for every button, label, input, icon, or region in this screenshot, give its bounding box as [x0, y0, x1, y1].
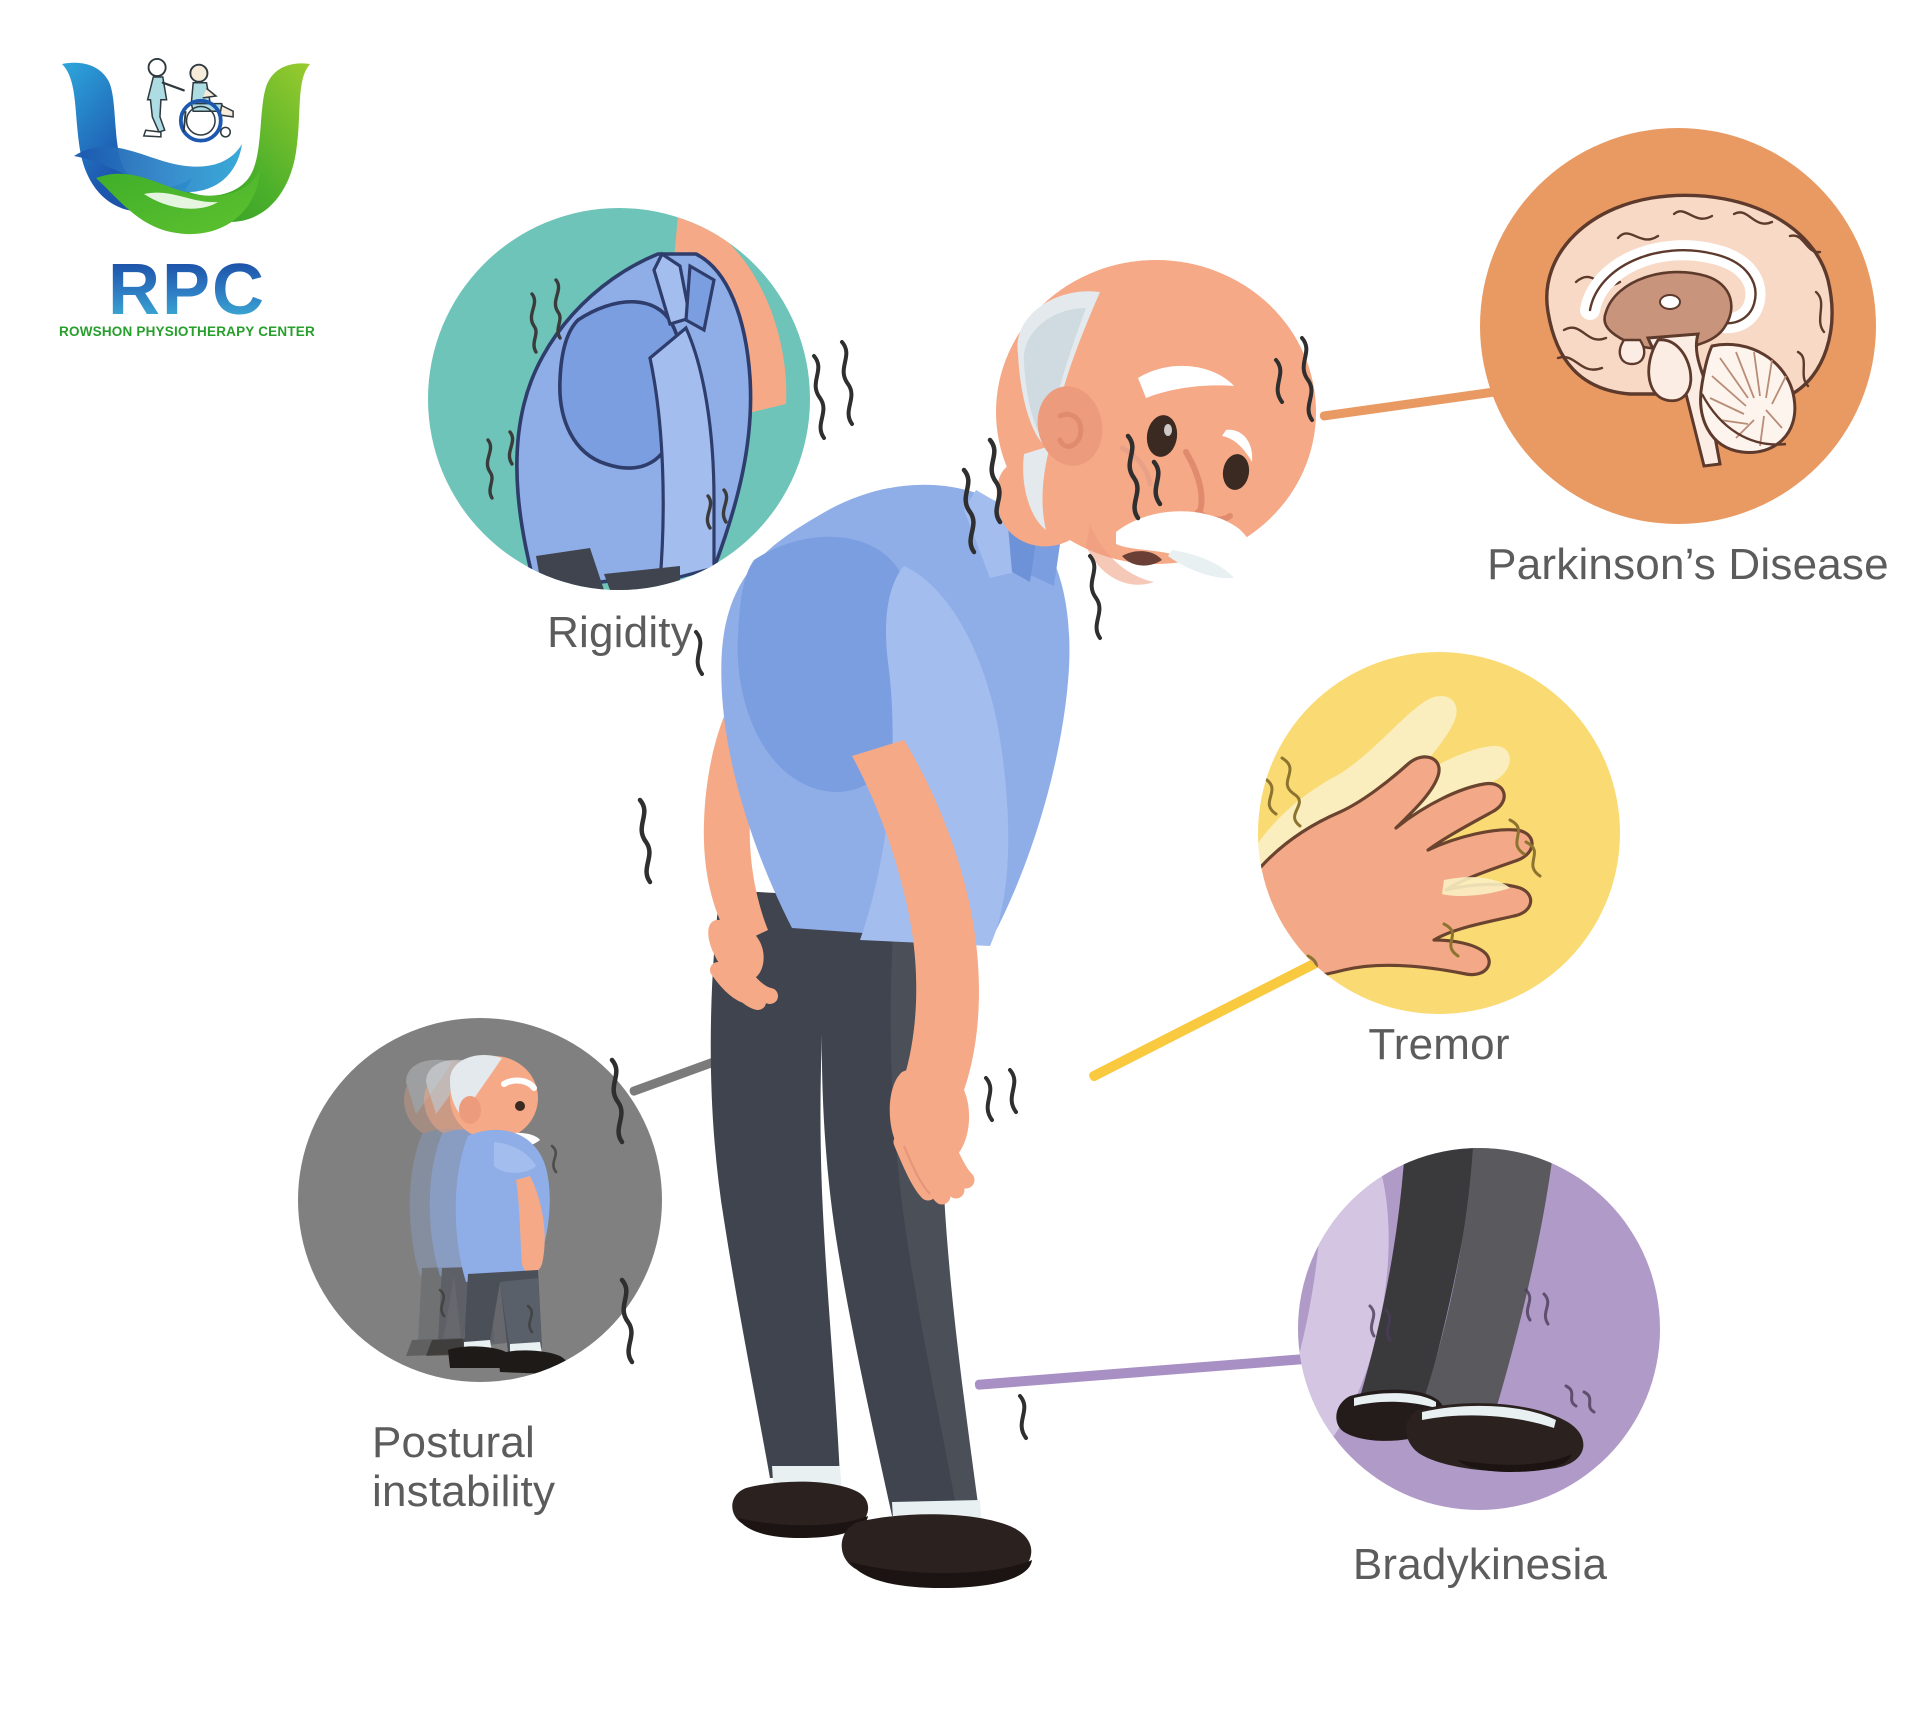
tremor-marks-overlay	[560, 760, 820, 1400]
shuffling-feet-icon	[1298, 1148, 1660, 1510]
callout-label-parkinsons-disease: Parkinson’s Disease	[1478, 540, 1898, 589]
callout-label-bradykinesia: Bradykinesia	[1290, 1540, 1670, 1589]
infographic-canvas: RPC ROWSHON PHYSIOTHERAPY CENTER	[0, 0, 1920, 1714]
brand-logo[interactable]: RPC ROWSHON PHYSIOTHERAPY CENTER	[52, 36, 322, 326]
brain-sagittal-icon	[1480, 128, 1876, 524]
tremor-marks-head-overlay	[950, 420, 1170, 700]
brand-wordmark: RPC	[52, 254, 322, 326]
wheelchair-caregiver-icon	[52, 36, 322, 256]
brand-tagline: ROWSHON PHYSIOTHERAPY CENTER	[52, 324, 322, 339]
callout-circle-parkinsons-disease[interactable]	[1480, 128, 1876, 524]
callout-circle-bradykinesia[interactable]	[1298, 1148, 1660, 1510]
callout-label-postural-instability: Postural instability	[372, 1418, 712, 1517]
